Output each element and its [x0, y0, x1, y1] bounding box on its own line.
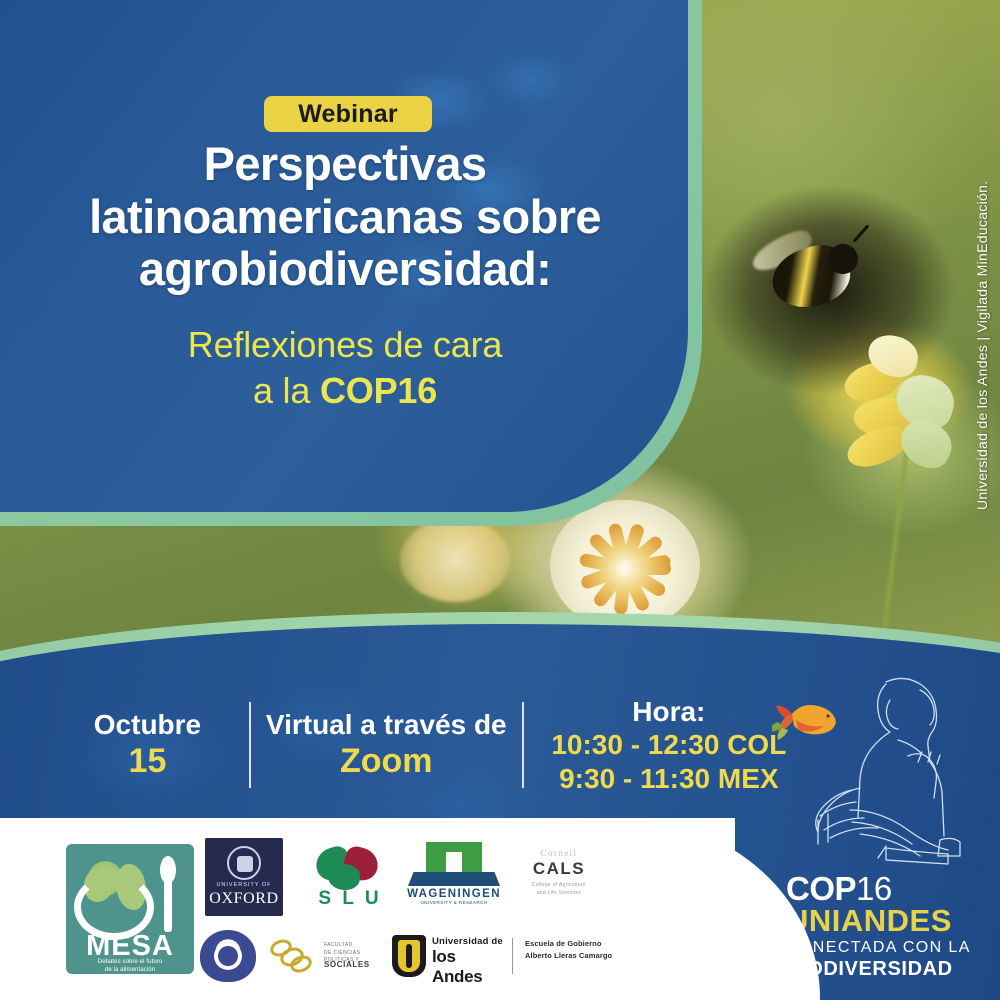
subtitle-cop16: COP16	[320, 370, 437, 411]
subtitle-line-1: Reflexiones de cara	[0, 322, 690, 368]
event-date: Octubre 15	[60, 708, 235, 782]
logo-fcps-name: SOCIALES	[324, 960, 370, 969]
logo-cornell-cals: Cornell CALS College of Agriculture and …	[516, 848, 602, 904]
fcps-mark-icon	[268, 938, 316, 976]
oxford-crest-icon	[227, 846, 261, 880]
poster-canvas: Webinar Perspectivas latinoamericanas so…	[0, 0, 1000, 1000]
yellow-flower-icon	[840, 330, 970, 480]
logo-escuela-gobierno: Escuela de Gobierno Alberto Lleras Camar…	[512, 938, 632, 974]
logo-oxford: UNIVERSITY OF OXFORD	[205, 838, 283, 916]
event-platform: Virtual a través de Zoom	[265, 708, 508, 782]
platform-value: Zoom	[340, 741, 433, 782]
subtitle-line-2: a la COP16	[0, 368, 690, 414]
subtitle-prefix: a la	[253, 370, 320, 411]
time-value-colombia: 10:30 - 12:30 COL	[551, 728, 786, 762]
logo-cals-sub: College of Agriculture and Life Sciences	[516, 882, 602, 897]
bumblebee-icon	[750, 228, 870, 324]
divider	[249, 702, 251, 788]
logo-mesa: MESA Debates sobre el futuro de la alime…	[66, 844, 194, 974]
uniandes-shield-icon	[392, 935, 426, 977]
bee-antenna-icon	[853, 224, 870, 242]
logo-mesa-tagline: Debates sobre el futuro de la alimentaci…	[66, 958, 194, 974]
slu-leaf-icon	[328, 864, 360, 890]
cop16-number: 16	[856, 870, 892, 907]
logo-wageningen-name: WAGENINGEN	[404, 888, 504, 900]
cop16-uniandes-word: UNIANDES	[786, 905, 986, 938]
logo-unam	[200, 930, 256, 982]
headline-line-2: latinoamericanas sobre	[0, 191, 690, 244]
logo-wageningen: WAGENINGEN UNIVERSITY & RESEARCH	[404, 842, 504, 908]
logo-fcps-unam: FACULTAD DE CIENCIAS POLÍTICAS Y SOCIALE…	[268, 936, 390, 980]
date-value: 15	[129, 741, 167, 782]
cop16-cop: COP	[786, 870, 856, 907]
wageningen-base-icon	[408, 872, 500, 886]
time-value-mexico: 9:30 - 11:30 MEX	[559, 762, 778, 796]
logo-cals-name: CALS	[516, 859, 602, 879]
logo-slu: S L U	[314, 848, 386, 910]
spoon-icon	[158, 856, 178, 932]
cop16-line3: CONECTADA CON LA	[786, 938, 986, 958]
logo-uniandes-top: Universidad de	[432, 936, 503, 947]
page-subtitle: Reflexiones de cara a la COP16	[0, 322, 690, 414]
logo-oxford-top: UNIVERSITY OF	[205, 882, 283, 888]
event-details-row: Octubre 15 Virtual a través de Zoom Hora…	[60, 690, 800, 800]
page-title: Perspectivas latinoamericanas sobre agro…	[0, 138, 690, 296]
logo-wageningen-sub: UNIVERSITY & RESEARCH	[404, 900, 504, 905]
logo-uniandes: Universidad de los Andes	[392, 932, 504, 980]
logo-cals-top: Cornell	[516, 848, 602, 858]
bird-icon	[772, 692, 842, 742]
divider	[522, 702, 524, 788]
headline-line-1: Perspectivas	[0, 138, 690, 191]
logo-uniandes-name: los Andes	[432, 947, 504, 987]
legal-vertical-text: Universidad de los Andes | Vigilada MinE…	[974, 30, 996, 510]
date-label: Octubre	[94, 708, 201, 741]
cop16-line1: COP16	[786, 872, 986, 905]
logo-slu-name: S L U	[314, 888, 386, 910]
unam-shield-icon	[200, 930, 256, 982]
webinar-badge: Webinar	[264, 96, 432, 132]
logo-oxford-name: OXFORD	[205, 890, 283, 908]
logo-escuela-line2: Alberto Lleras Camargo	[525, 950, 632, 962]
platform-label: Virtual a través de	[266, 708, 507, 741]
headline-line-3: agrobiodiversidad:	[0, 243, 690, 296]
time-label: Hora:	[632, 695, 705, 728]
partner-logos: MESA Debates sobre el futuro de la alime…	[0, 826, 720, 1000]
wageningen-mark-icon	[426, 842, 482, 876]
logo-escuela-line1: Escuela de Gobierno	[525, 938, 632, 950]
